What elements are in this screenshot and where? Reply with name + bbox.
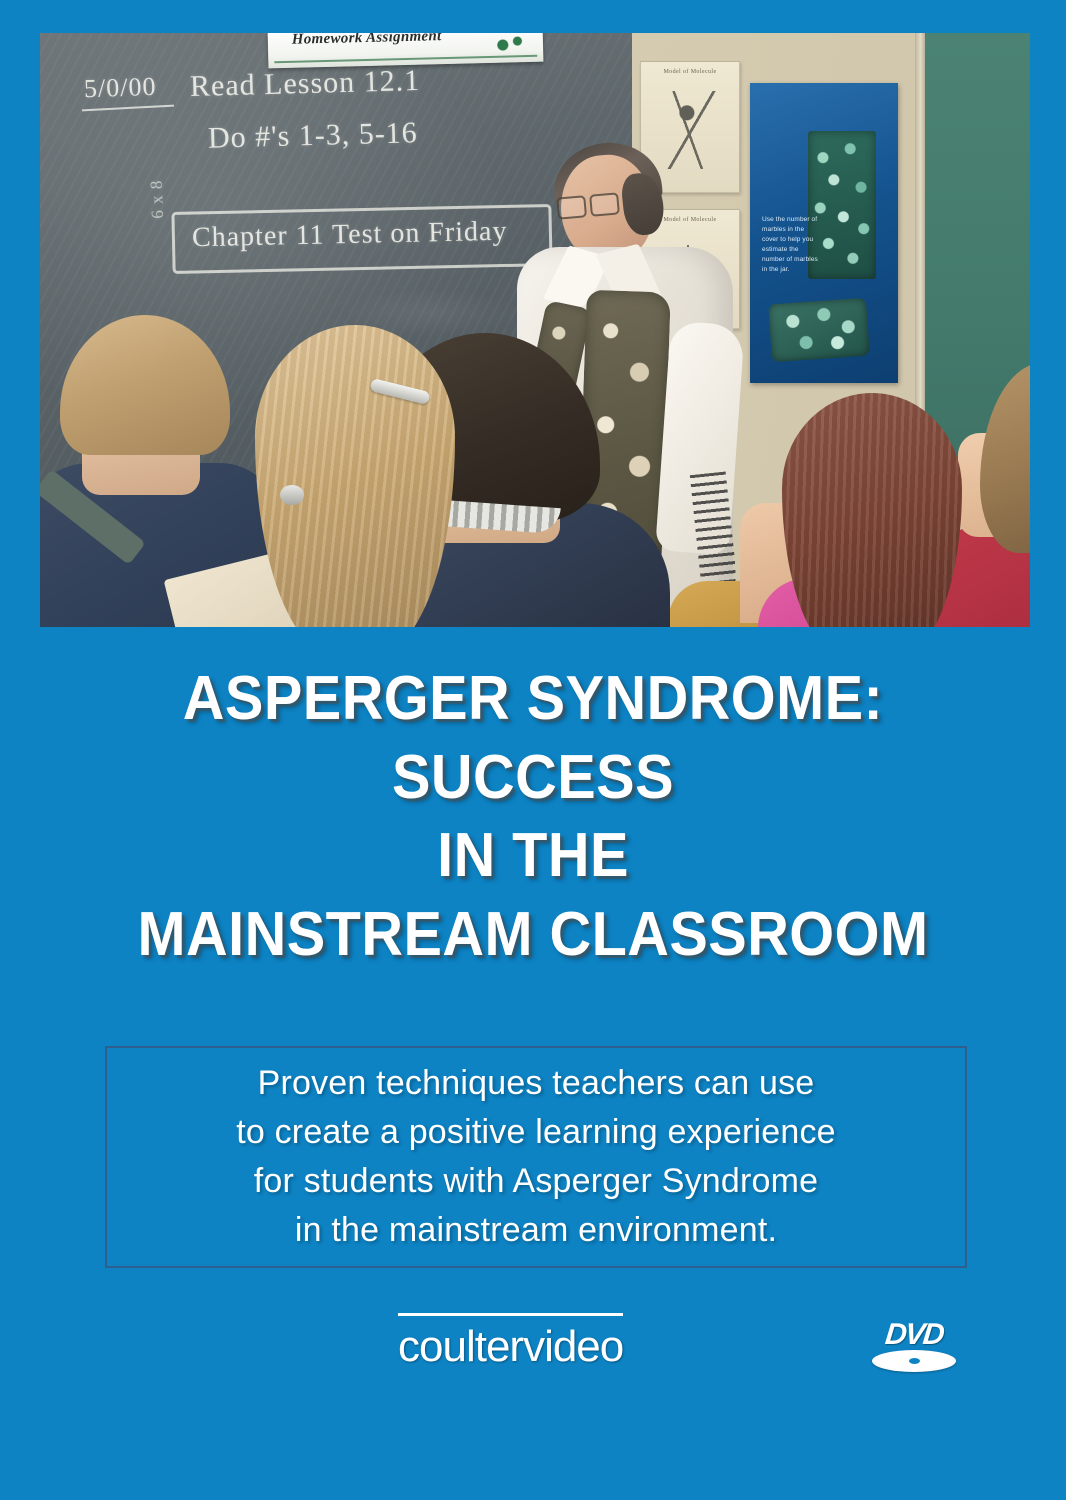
marble-estimation-poster: Use the number of marbles in the cover t… — [750, 83, 898, 383]
banner-decoration — [489, 33, 536, 55]
tagline-text: Proven techniques teachers can use to cr… — [236, 1059, 836, 1255]
tagline-line-1: Proven techniques teachers can use — [236, 1059, 836, 1108]
title-line-3: IN THE — [37, 817, 1028, 896]
chalk-line-1: Read Lesson 12.1 — [190, 64, 421, 104]
chalk-side-note: 6 x 8 — [147, 179, 168, 219]
marble-tray — [768, 298, 870, 363]
teacher-glasses — [556, 192, 620, 217]
chalk-line-2: Do #'s 1-3, 5-16 — [208, 116, 419, 155]
publisher-logo: coultervideo — [398, 1313, 623, 1369]
title-line-1: ASPERGER SYNDROME: — [37, 660, 1028, 739]
wall-paper-1-caption: Model of Molecule — [641, 69, 739, 75]
cover-photograph: Homework Assignment 5/0/00 Read Lesson 1… — [40, 33, 1030, 627]
student-2-hair — [255, 325, 455, 627]
chalk-boxed-note: Chapter 11 Test on Friday — [192, 216, 508, 255]
dvd-logo-text: DVD — [866, 1320, 961, 1350]
poster-text: Use the number of marbles in the cover t… — [762, 215, 818, 275]
tagline-box: Proven techniques teachers can use to cr… — [105, 1046, 967, 1268]
dvd-logo-icon: DVD — [868, 1320, 960, 1382]
tagline-line-4: in the mainstream environment. — [236, 1206, 836, 1255]
tagline-line-2: to create a positive learning experience — [236, 1108, 836, 1157]
dvd-logo-hole — [909, 1358, 920, 1364]
chalk-date: 5/0/00 — [83, 72, 156, 105]
title-line-2: SUCCESS — [37, 739, 1028, 818]
student-4-hair — [782, 393, 962, 627]
banner-text: Homework Assignment — [292, 33, 442, 49]
tagline-line-3: for students with Asperger Syndrome — [236, 1157, 836, 1206]
marble-jar — [808, 131, 876, 279]
dvd-cover: Homework Assignment 5/0/00 Read Lesson 1… — [0, 0, 1066, 1500]
student-2-hair-band — [280, 485, 304, 505]
banner-rule — [274, 55, 537, 63]
title-line-4: MAINSTREAM CLASSROOM — [37, 896, 1028, 975]
cover-title: ASPERGER SYNDROME: SUCCESS IN THE MAINST… — [0, 660, 1066, 975]
